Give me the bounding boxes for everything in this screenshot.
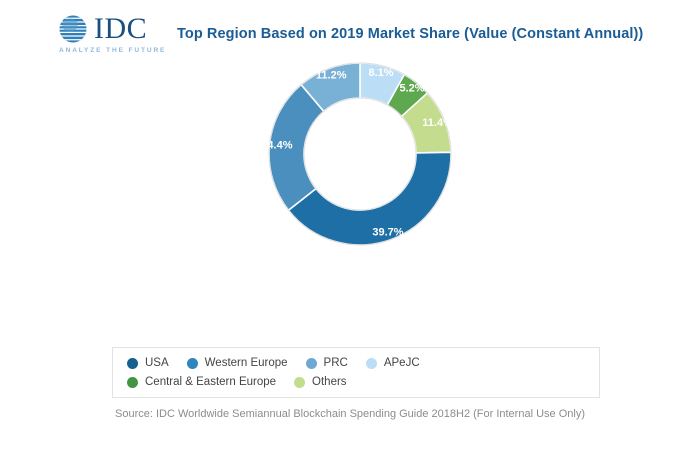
legend-color-swatch-icon: [306, 358, 317, 369]
legend-item[interactable]: Western Europe: [187, 357, 288, 369]
legend-color-swatch-icon: [366, 358, 377, 369]
legend-color-swatch-icon: [127, 358, 138, 369]
slice-value-label: 5.2%: [399, 83, 424, 95]
legend-color-swatch-icon: [187, 358, 198, 369]
chart-area: 8.1%5.2%11.4%39.7%24.4%11.2%: [0, 48, 700, 298]
legend-item-label: Others: [312, 376, 347, 388]
legend-color-swatch-icon: [127, 377, 138, 388]
legend-item[interactable]: Others: [294, 376, 347, 388]
slice-value-label: 11.2%: [316, 70, 347, 82]
legend-item[interactable]: Central & Eastern Europe: [127, 376, 276, 388]
idc-globe-icon: [58, 14, 88, 44]
legend-item-label: PRC: [324, 357, 348, 369]
legend-item-label: USA: [145, 357, 169, 369]
legend-item-label: Central & Eastern Europe: [145, 376, 276, 388]
slice-value-label: 11.4%: [422, 117, 453, 129]
slice-value-label: 8.1%: [368, 67, 393, 79]
donut-chart: 8.1%5.2%11.4%39.7%24.4%11.2%: [262, 54, 458, 264]
chart-header: IDC ANALYZE THE FUTURE Top Region Based …: [0, 0, 700, 48]
logo-wordmark: IDC: [94, 14, 147, 44]
legend-item[interactable]: APeJC: [366, 357, 420, 369]
legend-item[interactable]: USA: [127, 357, 169, 369]
slice-value-label: 24.4%: [261, 140, 292, 152]
legend-color-swatch-icon: [294, 377, 305, 388]
chart-legend: USAWestern EuropePRCAPeJCCentral & Easte…: [112, 347, 600, 398]
source-note: Source: IDC Worldwide Semiannual Blockch…: [0, 408, 700, 420]
slice-value-label: 39.7%: [372, 227, 403, 239]
legend-item-label: APeJC: [384, 357, 420, 369]
page-title: Top Region Based on 2019 Market Share (V…: [177, 26, 643, 42]
donut-svg: 8.1%5.2%11.4%39.7%24.4%11.2%: [262, 54, 458, 264]
legend-item[interactable]: PRC: [306, 357, 348, 369]
logo-row: IDC: [58, 14, 147, 44]
donut-slice[interactable]: [288, 152, 451, 245]
legend-item-label: Western Europe: [205, 357, 288, 369]
